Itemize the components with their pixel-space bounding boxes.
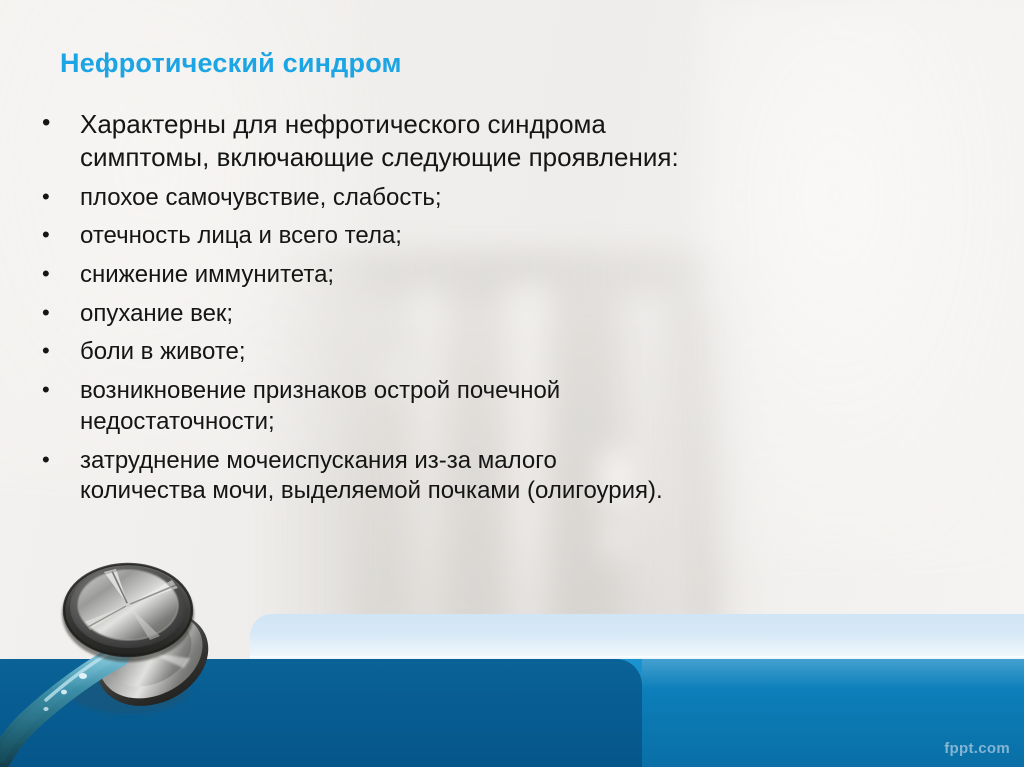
list-item-text: опухание век;	[80, 299, 936, 330]
bullet-marker-icon: •	[36, 376, 80, 404]
watermark-fppt: fppt.com	[944, 740, 1010, 757]
list-item: • опухание век;	[36, 299, 936, 330]
stethoscope-image	[0, 552, 260, 767]
decor-band-sheen	[642, 659, 1024, 689]
list-item-text: снижение иммунитета;	[80, 260, 936, 291]
list-item-text: Характерны для нефротического синдрома с…	[80, 108, 936, 175]
background-plate-2	[602, 520, 626, 556]
bullet-marker-icon: •	[36, 337, 80, 365]
list-item: • плохое самочувствие, слабость;	[36, 183, 936, 214]
presentation-slide: Нефротический синдром • Характерны для н…	[0, 0, 1024, 767]
list-item: • Характерны для нефротического синдрома…	[36, 108, 936, 175]
list-item: • отечность лица и всего тела;	[36, 221, 936, 252]
list-item-text: плохое самочувствие, слабость;	[80, 183, 936, 214]
list-item: • затруднение мочеиспускания из-за малог…	[36, 446, 936, 507]
bullet-marker-icon: •	[36, 221, 80, 249]
list-item-text: возникновение признаков острой почечной …	[80, 376, 936, 437]
list-item-text: отечность лица и всего тела;	[80, 221, 936, 252]
bullet-marker-icon: •	[36, 108, 80, 139]
list-item-text: затруднение мочеиспускания из-за малого …	[80, 446, 936, 507]
bullet-marker-icon: •	[36, 299, 80, 327]
bullet-marker-icon: •	[36, 446, 80, 474]
page-title: Нефротический синдром	[60, 48, 402, 79]
list-item-text: боли в животе;	[80, 337, 936, 368]
bullet-list: • Характерны для нефротического синдрома…	[36, 108, 936, 515]
decor-band-light	[250, 614, 1024, 658]
bullet-marker-icon: •	[36, 260, 80, 288]
list-item: • боли в животе;	[36, 337, 936, 368]
bullet-marker-icon: •	[36, 183, 80, 211]
list-item: • снижение иммунитета;	[36, 260, 936, 291]
list-item: • возникновение признаков острой почечно…	[36, 376, 936, 437]
